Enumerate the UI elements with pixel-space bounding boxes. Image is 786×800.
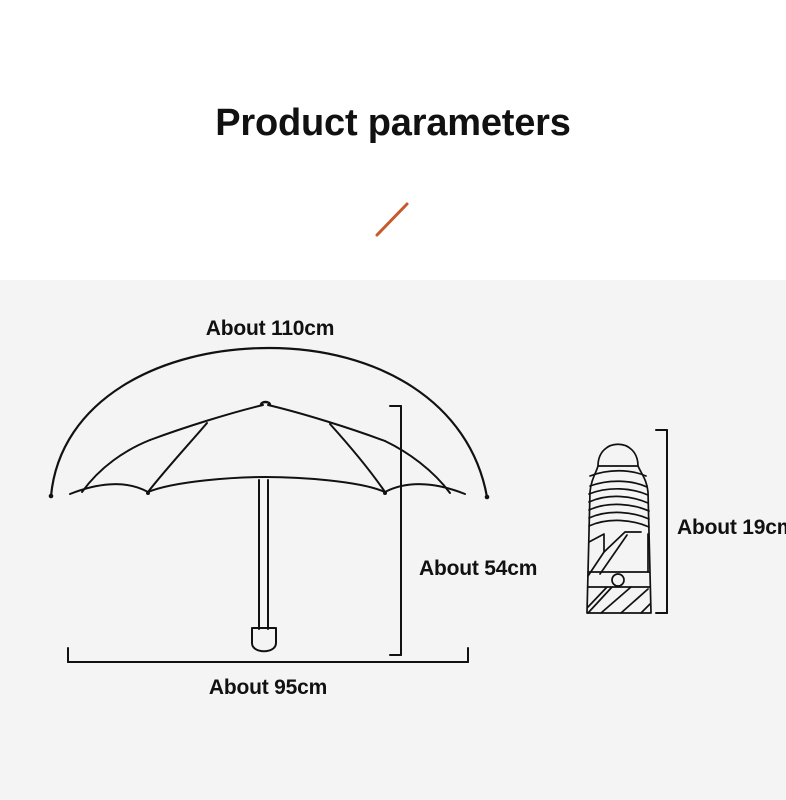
canopy-rim-notch-left — [146, 491, 150, 495]
folded-fold-line-1 — [590, 481, 647, 487]
folded-lower-diagonal-2 — [588, 587, 612, 613]
dimension-label-canopy-arc: About 110cm — [0, 317, 540, 341]
diagram-panel: About 110cm About 95cm About 54cm About … — [0, 280, 786, 800]
canopy-tip-left — [49, 494, 54, 499]
canopy-rim-notch-right — [383, 491, 387, 495]
canopy-panel-right-outer — [385, 441, 450, 493]
folded-fold-line-3 — [589, 496, 648, 503]
folded-collar-line — [590, 471, 646, 476]
folded-dome-top — [598, 444, 638, 466]
dimension-length-19 — [656, 430, 667, 613]
canopy-outer-arc — [51, 348, 487, 497]
folded-lower-diagonal-5 — [641, 604, 650, 613]
folded-fold-line-5 — [589, 512, 649, 519]
folded-chevron-fold — [589, 532, 641, 552]
canopy-inner-ridge-right — [268, 405, 385, 441]
folded-lower-diagonal-1 — [588, 587, 607, 607]
dimension-label-folded-length: About 19cm — [677, 516, 786, 540]
product-parameters-page: Product parameters — [0, 0, 786, 800]
dimension-label-open-height: About 54cm — [419, 557, 537, 581]
umbrella-dimension-diagram — [0, 280, 786, 800]
folded-umbrella-group — [587, 444, 651, 613]
header-section: Product parameters — [0, 0, 786, 280]
folded-fold-line-2 — [589, 489, 648, 495]
canopy-tip-right — [485, 495, 490, 500]
handle-cap — [252, 628, 276, 651]
folded-fold-line-6 — [589, 520, 649, 527]
dimension-label-canopy-width: About 95cm — [0, 676, 536, 700]
open-umbrella-group — [49, 348, 490, 651]
folded-strap-snap-button — [612, 574, 624, 586]
folded-fold-line-4 — [589, 504, 649, 511]
diagonal-slash-icon — [374, 200, 412, 238]
page-title: Product parameters — [0, 103, 786, 145]
